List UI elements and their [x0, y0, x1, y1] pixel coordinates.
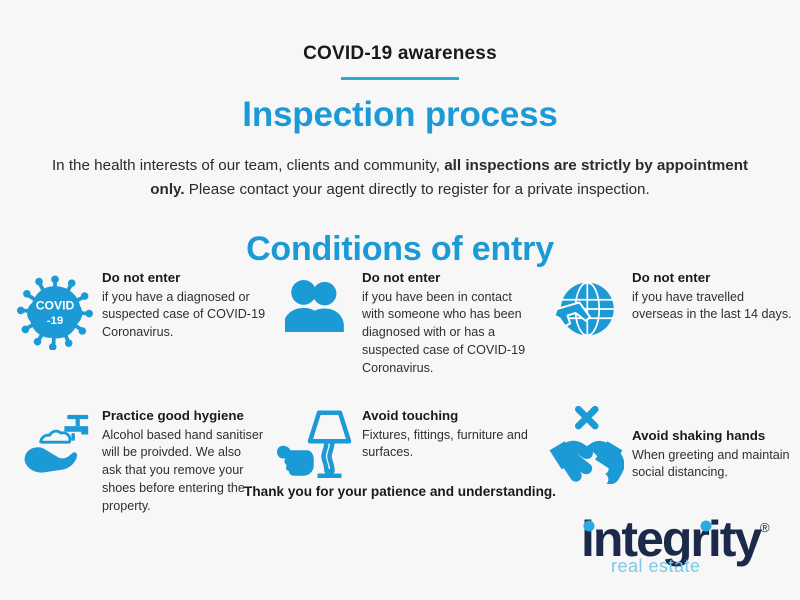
- condition-card-body: Do not enter if you have a diagnosed or …: [94, 268, 272, 342]
- globe-airplane-icon: [546, 268, 626, 342]
- covid-icon-label-bottom: -19: [47, 315, 63, 327]
- header-divider: [341, 77, 459, 80]
- condition-card-text: if you have a diagnosed or suspected cas…: [102, 289, 266, 343]
- x-mark-icon: [578, 409, 595, 426]
- conditions-grid: COVID -19 Do not enter if you have a dia…: [0, 268, 800, 516]
- lamp-pointing-hand-icon: [276, 406, 356, 482]
- condition-card: Practice good hygiene Alcohol based hand…: [0, 406, 272, 516]
- logo-dot-i1: [584, 521, 595, 532]
- page-title: Inspection process: [0, 97, 800, 134]
- condition-card: Do not enter if you have been in contact…: [272, 268, 540, 378]
- condition-card-text: When greeting and maintain social distan…: [632, 447, 794, 483]
- intro-text-part2: Please contact your agent directly to re…: [185, 181, 650, 198]
- condition-card-body: Avoid shaking hands When greeting and ma…: [626, 406, 800, 482]
- thank-you-text: Thank you for your patience and understa…: [0, 484, 800, 499]
- condition-card-body: Do not enter if you have travelled overs…: [626, 268, 800, 324]
- logo-registered-mark: ®: [760, 520, 770, 535]
- condition-card-text: Alcohol based hand sanitiser will be pro…: [102, 427, 264, 516]
- page-eyebrow: COVID-19 awareness: [0, 0, 800, 65]
- conditions-title: Conditions of entry: [0, 230, 800, 269]
- logo-tagline: real estate: [611, 556, 701, 576]
- condition-card: COVID -19 Do not enter if you have a dia…: [0, 268, 272, 378]
- two-people-icon: [276, 268, 356, 332]
- covid-icon-label-top: COVID: [36, 299, 75, 313]
- condition-card: Do not enter if you have travelled overs…: [540, 268, 800, 378]
- poster-root: COVID-19 awareness Inspection process In…: [0, 0, 800, 600]
- covid-virus-icon: COVID -19: [16, 268, 94, 350]
- condition-card-title: Avoid shaking hands: [632, 428, 794, 445]
- condition-card-title: Do not enter: [102, 270, 266, 287]
- integrity-logo: integrity ® real estate: [573, 508, 778, 580]
- conditions-row-1: COVID -19 Do not enter if you have a dia…: [0, 268, 800, 378]
- condition-card: Avoid touching Fixtures, fittings, furni…: [272, 406, 540, 516]
- logo-dot-i2: [701, 521, 712, 532]
- condition-card-text: if you have travelled overseas in the la…: [632, 289, 794, 325]
- condition-card-title: Do not enter: [632, 270, 794, 287]
- condition-card-body: Practice good hygiene Alcohol based hand…: [96, 406, 272, 516]
- condition-card-title: Practice good hygiene: [102, 408, 264, 425]
- header-divider-wrap: [0, 77, 800, 80]
- condition-card-title: Do not enter: [362, 270, 530, 287]
- condition-card-title: Avoid touching: [362, 408, 530, 425]
- condition-card-body: Do not enter if you have been in contact…: [356, 268, 540, 378]
- hand-washing-icon: [16, 406, 96, 478]
- conditions-row-2: Practice good hygiene Alcohol based hand…: [0, 406, 800, 516]
- condition-card-body: Avoid touching Fixtures, fittings, furni…: [356, 406, 540, 462]
- condition-card: Avoid shaking hands When greeting and ma…: [540, 406, 800, 516]
- no-handshake-icon: [546, 406, 626, 484]
- intro-text-part1: In the health interests of our team, cli…: [52, 157, 444, 174]
- condition-card-text: if you have been in contact with someone…: [362, 289, 530, 378]
- condition-card-text: Fixtures, fittings, furniture and surfac…: [362, 427, 530, 463]
- intro-paragraph: In the health interests of our team, cli…: [50, 154, 750, 203]
